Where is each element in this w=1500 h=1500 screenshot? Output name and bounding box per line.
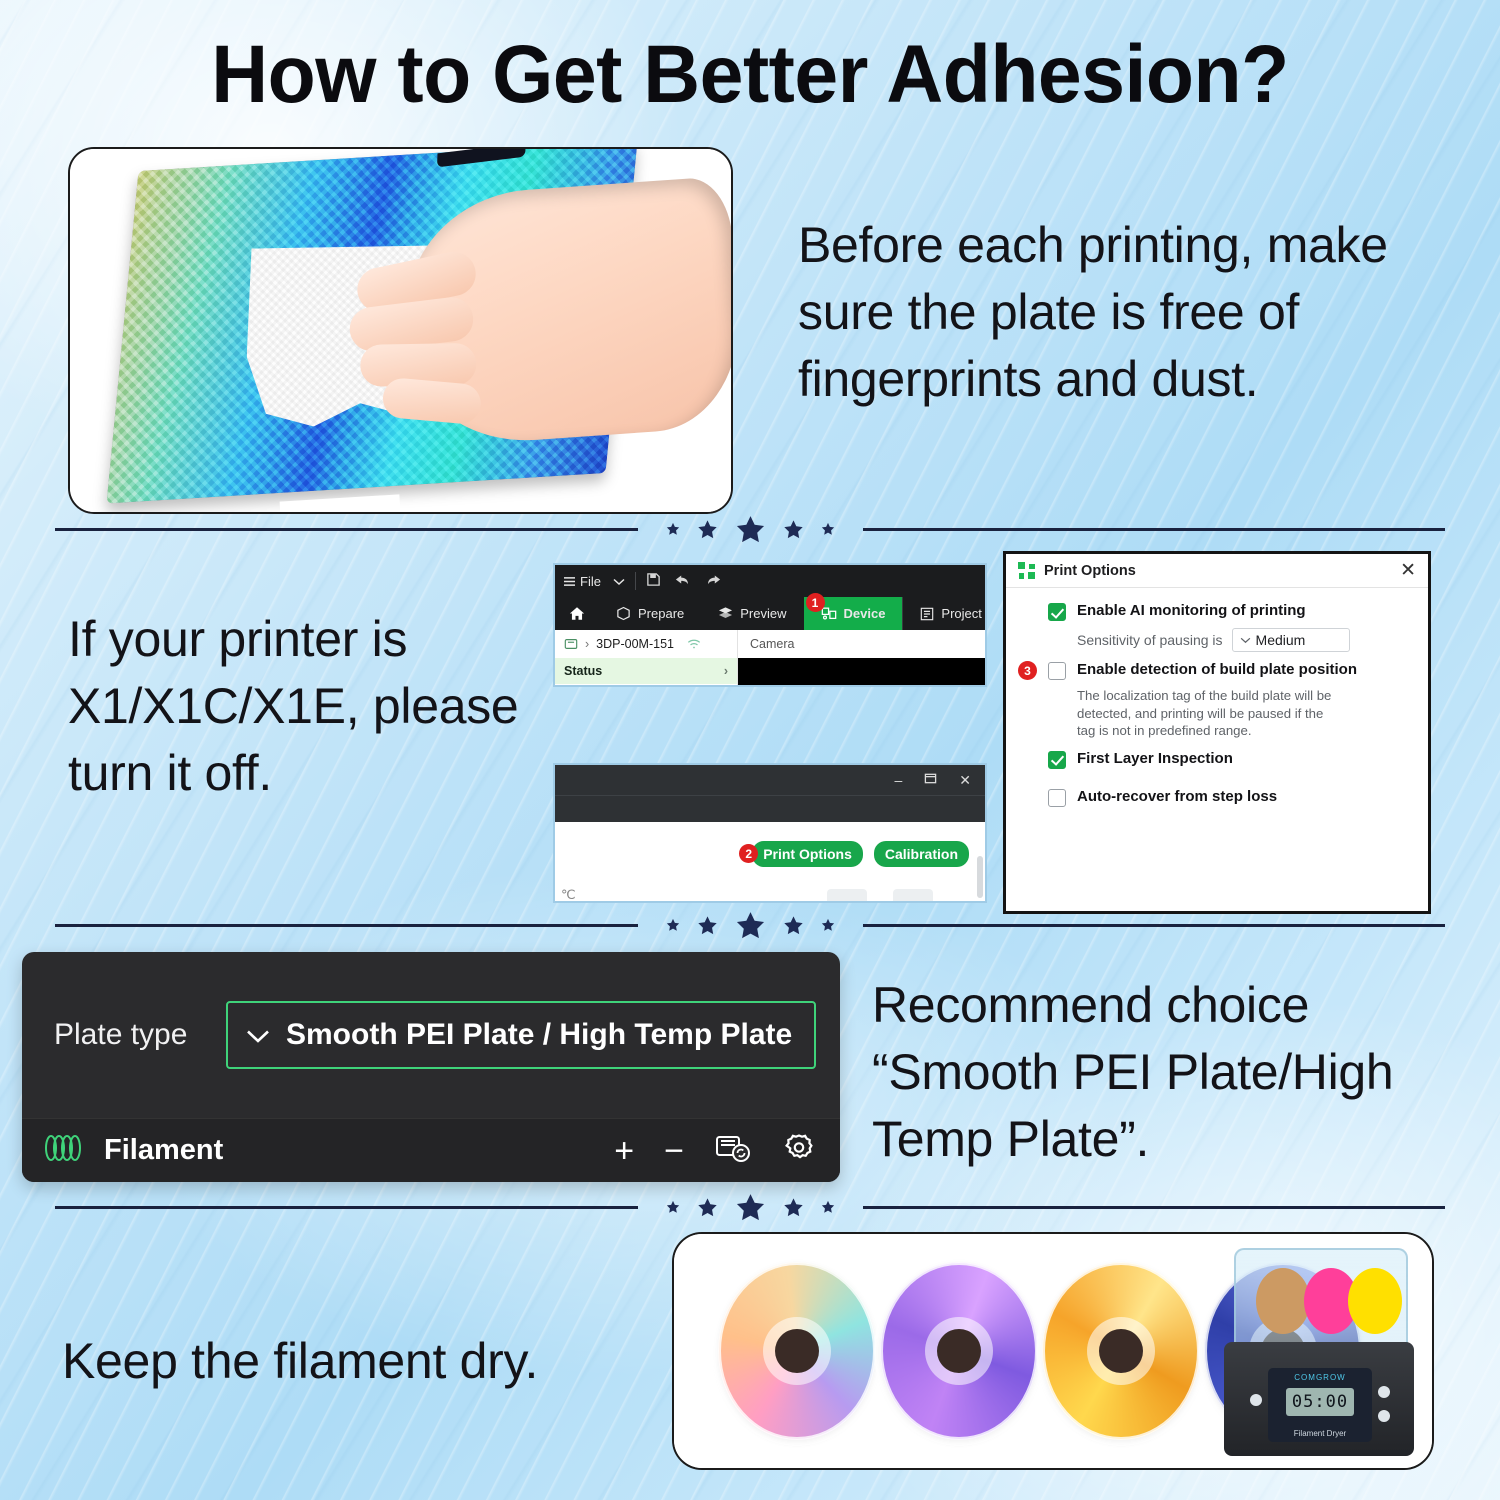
divider-line-right: [863, 528, 1446, 531]
printer-icon: [564, 637, 578, 651]
divider-stars-2: [55, 908, 1445, 942]
sd-sync-icon[interactable]: [714, 1132, 752, 1170]
dryer-spool: [1256, 1268, 1310, 1334]
plate-type-label: Plate type: [54, 1018, 226, 1052]
sensitivity-select[interactable]: Medium: [1232, 628, 1350, 652]
filament-spool: [880, 1262, 1038, 1440]
plate-type-value: Smooth PEI Plate / High Temp Plate: [286, 1018, 792, 1052]
dryer-knob[interactable]: [1378, 1410, 1390, 1422]
checkbox-unchecked[interactable]: [1048, 662, 1066, 680]
option-label: Enable AI monitoring of printing: [1077, 602, 1306, 620]
hamburger-icon: [563, 576, 576, 587]
action-buttons: 2 Print Options Calibration: [752, 841, 969, 867]
build-plate-cleaning-photo: [68, 147, 733, 514]
plate-type-panel: Plate type Smooth PEI Plate / High Temp …: [22, 952, 840, 1182]
dryer-lid: [1234, 1248, 1408, 1344]
divider-star-group: [638, 910, 863, 941]
divider-line-left: [55, 1206, 638, 1209]
device-row[interactable]: › 3DP-00M-151: [555, 630, 737, 658]
add-filament-button[interactable]: +: [614, 1134, 634, 1168]
dryer-spool: [1348, 1268, 1402, 1334]
star-icon: [783, 519, 804, 540]
slicer-tab-bar: Prepare Preview 1 Device Project: [555, 597, 985, 630]
option-description: The localization tag of the build plate …: [1077, 687, 1342, 740]
divider-star-group: [638, 514, 863, 545]
star-icon: [783, 915, 804, 936]
placeholder-control: [827, 889, 867, 903]
print-options-label: Print Options: [763, 846, 852, 862]
sensitivity-value: Medium: [1256, 632, 1306, 648]
tab-device-label: Device: [844, 606, 886, 621]
star-icon: [666, 918, 680, 932]
file-menu-label: File: [580, 574, 601, 589]
tab-project-label: Project: [941, 606, 981, 621]
calibration-button[interactable]: Calibration: [874, 841, 969, 867]
chevron-down-icon: [246, 1018, 270, 1052]
plate-tab: [437, 147, 526, 167]
option-label: Auto-recover from step loss: [1077, 788, 1277, 806]
calibration-window-screenshot: – ✕ 2 Print Options Calibration ℃: [553, 763, 987, 903]
star-icon: [821, 522, 835, 536]
star-icon: [697, 1197, 718, 1218]
chevron-right-icon: ›: [724, 664, 728, 678]
preview-icon: [718, 606, 733, 621]
dryer-control-panel: COMGROW 05:00 Filament Dryer: [1268, 1368, 1372, 1442]
tab-preview-label: Preview: [740, 606, 786, 621]
dialog-title: Print Options: [1044, 563, 1136, 579]
wifi-icon: [687, 639, 701, 650]
window-title-bar: – ✕: [555, 765, 985, 795]
star-icon: [735, 514, 766, 545]
remove-filament-button[interactable]: −: [664, 1134, 684, 1168]
page-title: How to Get Better Adhesion?: [30, 34, 1470, 116]
tab-home[interactable]: [555, 597, 599, 630]
spacer: [1048, 776, 1416, 788]
poster-root: How to Get Better Adhesion? Before each …: [0, 0, 1500, 1500]
chevron-down-icon[interactable]: [613, 574, 625, 589]
spools-scene: COMGROW 05:00 Filament Dryer: [674, 1234, 1432, 1468]
toolbar-separator: [635, 572, 636, 590]
status-row[interactable]: Status ›: [555, 658, 737, 684]
step-badge-2: 2: [739, 844, 758, 863]
tab-prepare-label: Prepare: [638, 606, 684, 621]
close-button[interactable]: ✕: [959, 772, 971, 789]
divider-line-left: [55, 528, 638, 531]
file-menu[interactable]: File: [563, 574, 601, 589]
checkbox-unchecked[interactable]: [1048, 789, 1066, 807]
filament-spool: [1042, 1262, 1200, 1440]
filament-spool: [718, 1262, 876, 1440]
star-icon: [735, 1192, 766, 1223]
close-icon[interactable]: ✕: [1400, 561, 1416, 580]
star-icon: [697, 519, 718, 540]
divider-line-right: [863, 924, 1446, 927]
chevron-right-icon: ›: [585, 637, 589, 651]
placeholder-control: [893, 889, 933, 903]
option-ai-monitoring[interactable]: Enable AI monitoring of printing: [1048, 602, 1416, 621]
tab-preview[interactable]: Preview: [701, 597, 803, 630]
filament-dryer: COMGROW 05:00 Filament Dryer: [1224, 1248, 1414, 1456]
dryer-timer-display: 05:00: [1286, 1388, 1354, 1416]
star-icon: [735, 910, 766, 941]
checkbox-checked[interactable]: [1048, 751, 1066, 769]
dryer-knob[interactable]: [1250, 1394, 1262, 1406]
option-build-plate-detection[interactable]: 3 Enable detection of build plate positi…: [1048, 661, 1416, 680]
device-sidebar: › 3DP-00M-151 Status ›: [555, 630, 738, 687]
star-icon: [821, 1200, 835, 1214]
filament-label: Filament: [104, 1134, 223, 1167]
divider-line-left: [55, 924, 638, 927]
filament-spool-icon: [42, 1133, 84, 1168]
tip-text-keep-filament-dry: Keep the filament dry.: [62, 1328, 682, 1395]
save-icon[interactable]: [646, 572, 661, 590]
dialog-header: Print Options ✕: [1006, 554, 1428, 588]
star-icon: [821, 918, 835, 932]
camera-feed: [738, 658, 985, 687]
step-badge-1: 1: [806, 593, 825, 612]
minimize-button[interactable]: –: [894, 772, 902, 788]
divider-line-right: [863, 1206, 1446, 1209]
prepare-icon: [616, 606, 631, 621]
plate-type-select[interactable]: Smooth PEI Plate / High Temp Plate: [226, 1001, 816, 1069]
filament-actions: + −: [614, 1131, 816, 1171]
plate-type-row: Plate type Smooth PEI Plate / High Temp …: [22, 952, 840, 1118]
option-auto-recover[interactable]: Auto-recover from step loss: [1048, 788, 1416, 807]
maximize-button[interactable]: [924, 772, 937, 788]
print-options-button[interactable]: 2 Print Options: [752, 841, 863, 867]
gear-icon[interactable]: [782, 1131, 816, 1171]
divider-stars-3: [55, 1190, 1445, 1224]
status-label: Status: [564, 664, 602, 678]
checkbox-checked[interactable]: [1048, 603, 1066, 621]
temperature-unit: ℃: [561, 887, 576, 903]
scrollbar[interactable]: [977, 856, 983, 898]
star-icon: [666, 1200, 680, 1214]
tip-text-x1-printer: If your printer is X1/X1C/X1E, please tu…: [68, 606, 538, 807]
divider-star-group: [638, 1192, 863, 1223]
window-content: 2 Print Options Calibration ℃: [555, 822, 985, 903]
tab-prepare[interactable]: Prepare: [599, 597, 701, 630]
sensitivity-label: Sensitivity of pausing is: [1077, 632, 1223, 648]
project-icon: [920, 607, 934, 621]
star-icon: [697, 915, 718, 936]
print-options-dialog: Print Options ✕ Enable AI monitoring of …: [1003, 551, 1431, 914]
tip-text-clean-plate: Before each printing, make sure the plat…: [798, 212, 1478, 413]
home-icon: [569, 606, 585, 621]
slicer-device-screenshot: File Prepare: [553, 563, 987, 687]
chevron-down-icon: [1240, 637, 1251, 644]
filament-spools-photo: COMGROW 05:00 Filament Dryer: [672, 1232, 1434, 1470]
sensitivity-row: Sensitivity of pausing is Medium: [1077, 628, 1416, 652]
option-label: Enable detection of build plate position: [1077, 661, 1357, 679]
option-label: First Layer Inspection: [1077, 750, 1233, 768]
slicer-content: › 3DP-00M-151 Status › Camera: [555, 630, 985, 687]
dryer-brand: COMGROW: [1268, 1373, 1372, 1382]
redo-icon[interactable]: [705, 573, 721, 590]
dryer-knob[interactable]: [1378, 1386, 1390, 1398]
tip-text-recommend-plate: Recommend choice “Smooth PEI Plate/High …: [872, 972, 1472, 1173]
dryer-body: COMGROW 05:00 Filament Dryer: [1224, 1342, 1414, 1456]
plate-scene: [70, 149, 731, 512]
tab-project[interactable]: Project: [902, 597, 987, 630]
calibration-label: Calibration: [885, 846, 958, 862]
step-badge-3: 3: [1018, 661, 1037, 680]
slicer-toolbar: File: [555, 565, 985, 597]
tab-device[interactable]: 1 Device: [804, 597, 903, 630]
device-name: 3DP-00M-151: [596, 637, 674, 651]
star-icon: [783, 1197, 804, 1218]
undo-icon[interactable]: [675, 573, 691, 590]
camera-pane: Camera: [738, 630, 985, 687]
camera-label: Camera: [738, 630, 985, 658]
filament-row: Filament + −: [22, 1118, 840, 1182]
option-first-layer-inspection[interactable]: First Layer Inspection: [1048, 750, 1416, 769]
dryer-label: Filament Dryer: [1268, 1429, 1372, 1438]
app-logo-icon: [1018, 562, 1035, 579]
dialog-body: Enable AI monitoring of printing Sensiti…: [1006, 588, 1428, 807]
window-subheader: [555, 795, 985, 822]
divider-stars-1: [55, 512, 1445, 546]
star-icon: [666, 522, 680, 536]
